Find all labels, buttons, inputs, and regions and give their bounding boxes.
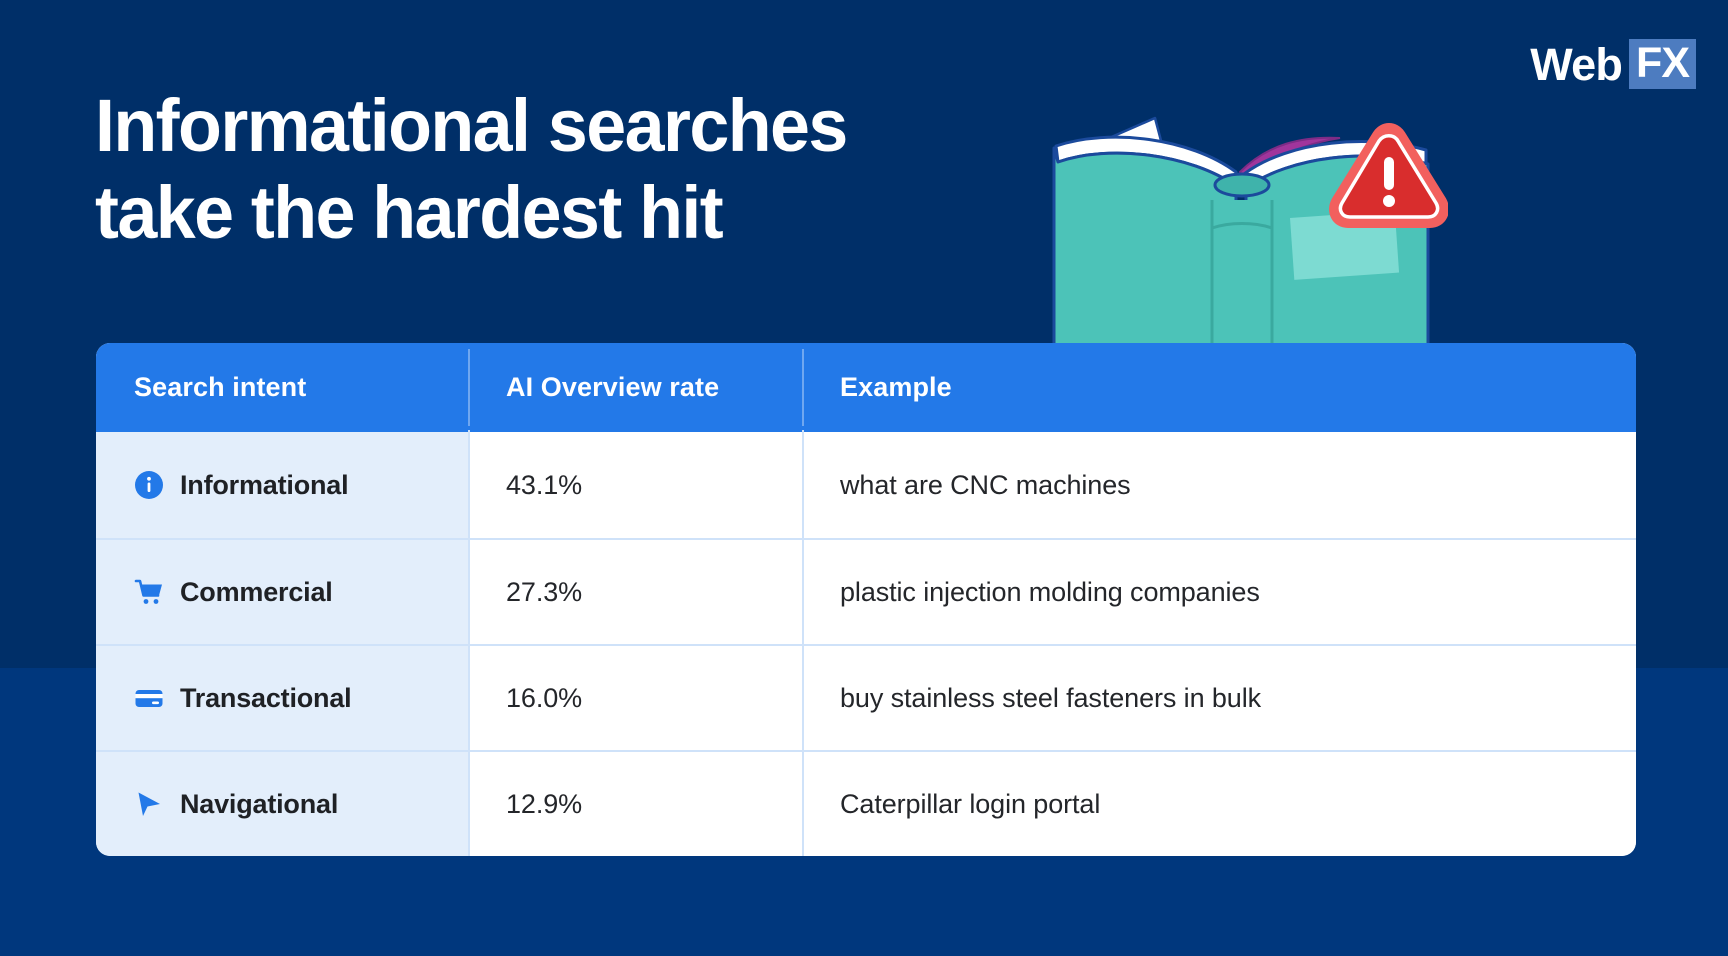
logo-web-text: Web: [1530, 42, 1622, 87]
cell-search-intent: Informational: [96, 432, 468, 538]
column-header-search-intent: Search intent: [96, 343, 468, 432]
rate-value: 12.9%: [506, 789, 582, 820]
table-row: Informational 43.1% what are CNC machine…: [96, 432, 1636, 538]
cell-ai-overview-rate: 16.0%: [468, 644, 802, 750]
table-row: Commercial 27.3% plastic injection moldi…: [96, 538, 1636, 644]
infographic-canvas: Web FX Informational searches take the h…: [0, 0, 1728, 956]
cell-ai-overview-rate: 12.9%: [468, 750, 802, 856]
intent-label: Navigational: [180, 789, 338, 820]
webfx-logo: Web FX: [1530, 38, 1696, 90]
shopping-cart-icon: [134, 577, 164, 607]
cell-search-intent: Transactional: [96, 644, 468, 750]
column-header-ai-overview-rate: AI Overview rate: [468, 343, 802, 432]
search-intent-table: Search intent AI Overview rate Example I…: [96, 343, 1636, 856]
cell-example: plastic injection molding companies: [802, 538, 1636, 644]
intent-label: Informational: [180, 470, 348, 501]
rate-value: 43.1%: [506, 470, 582, 501]
table-row: Navigational 12.9% Caterpillar login por…: [96, 750, 1636, 856]
cell-example: buy stainless steel fasteners in bulk: [802, 644, 1636, 750]
warning-triangle-icon: [1328, 122, 1448, 240]
example-value: buy stainless steel fasteners in bulk: [840, 683, 1261, 714]
cursor-arrow-icon: [134, 789, 164, 819]
page-title: Informational searches take the hardest …: [95, 82, 968, 256]
cell-search-intent: Navigational: [96, 750, 468, 856]
example-value: plastic injection molding companies: [840, 577, 1260, 608]
example-value: Caterpillar login portal: [840, 789, 1100, 820]
table-row: Transactional 16.0% buy stainless steel …: [96, 644, 1636, 750]
cell-ai-overview-rate: 27.3%: [468, 538, 802, 644]
cell-example: Caterpillar login portal: [802, 750, 1636, 856]
cell-search-intent: Commercial: [96, 538, 468, 644]
logo-fx-box: FX: [1629, 39, 1696, 89]
cell-ai-overview-rate: 43.1%: [468, 432, 802, 538]
table-header-row: Search intent AI Overview rate Example: [96, 343, 1636, 432]
intent-label: Transactional: [180, 683, 351, 714]
rate-value: 16.0%: [506, 683, 582, 714]
intent-label: Commercial: [180, 577, 333, 608]
rate-value: 27.3%: [506, 577, 582, 608]
example-value: what are CNC machines: [840, 470, 1131, 501]
logo-fx-text: FX: [1636, 42, 1689, 85]
credit-card-icon: [134, 683, 164, 713]
column-header-example: Example: [802, 343, 1636, 432]
info-circle-icon: [134, 470, 164, 500]
cell-example: what are CNC machines: [802, 432, 1636, 538]
